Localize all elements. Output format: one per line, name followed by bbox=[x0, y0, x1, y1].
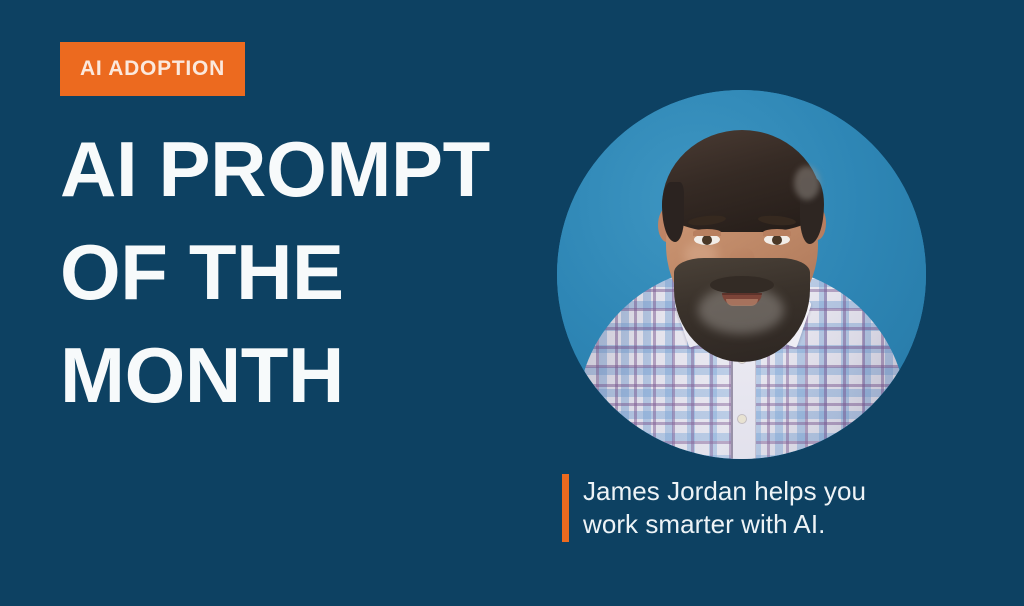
headline-line-2: OF THE bbox=[60, 221, 530, 324]
portrait bbox=[557, 90, 926, 459]
headline-line-3: MONTH bbox=[60, 324, 530, 427]
portrait-shirt-button bbox=[738, 415, 746, 423]
portrait-lower-lip bbox=[726, 299, 758, 306]
caption: James Jordan helps you work smarter with… bbox=[562, 474, 866, 542]
portrait-pupil-left bbox=[702, 235, 712, 245]
portrait-circle-frame bbox=[557, 90, 926, 459]
portrait-eyelid-left bbox=[693, 229, 721, 236]
page-title: AI PROMPT OF THE MONTH bbox=[60, 118, 530, 427]
caption-text: James Jordan helps you work smarter with… bbox=[583, 474, 866, 542]
portrait-eyelid-right bbox=[763, 229, 791, 236]
portrait-hair-grey-temple bbox=[794, 166, 820, 200]
caption-accent-bar bbox=[562, 474, 569, 542]
portrait-moustache bbox=[710, 276, 774, 294]
category-badge: AI ADOPTION bbox=[60, 42, 245, 96]
headline-column: AI ADOPTION AI PROMPT OF THE MONTH bbox=[60, 42, 530, 427]
portrait-pupil-right bbox=[772, 235, 782, 245]
ai-prompt-of-the-month-banner: AI ADOPTION AI PROMPT OF THE MONTH bbox=[0, 0, 1024, 606]
headline-line-1: AI PROMPT bbox=[60, 118, 530, 221]
